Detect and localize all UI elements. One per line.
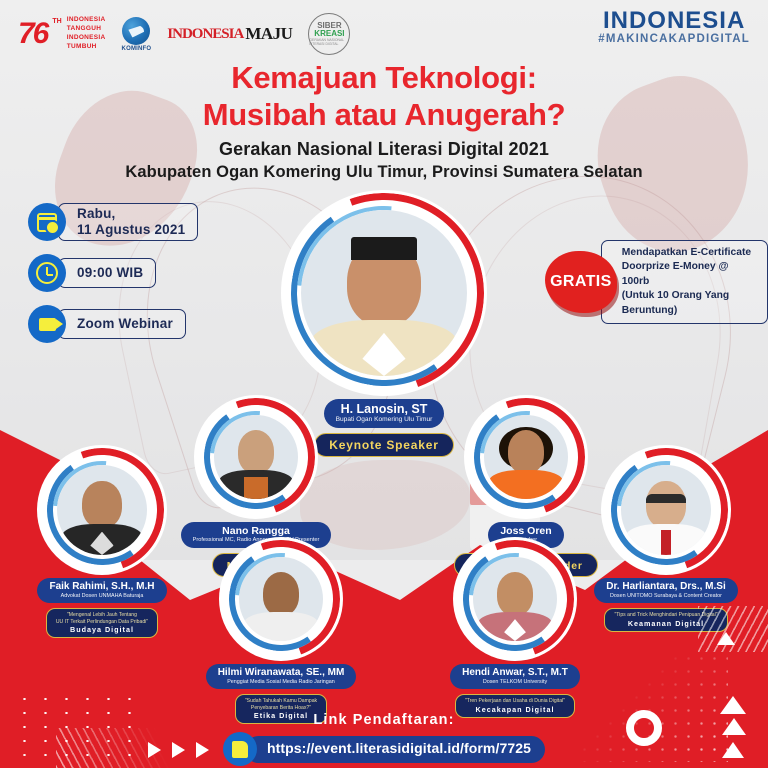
title-block: Kemajuan Teknologi: Musibah atau Anugera… bbox=[0, 60, 768, 182]
avatar-photo bbox=[484, 415, 568, 499]
speaker-quotebar: "Mengenal Lebih Jauh Tentang UU IT Terka… bbox=[46, 608, 158, 638]
gratis-promo: GRATIS Mendapatkan E-Certificate Doorpri… bbox=[545, 240, 768, 324]
gratis-line-1: Mendapatkan E-Certificate bbox=[622, 246, 757, 260]
speaker-quote: "Tren Pekerjaan dan Usaha di Dunia Digit… bbox=[465, 698, 565, 705]
webinar-poster: 76 TH INDONESIA TANGGUH INDONESIA TUMBUH… bbox=[0, 0, 768, 768]
speaker-category: Budaya Digital bbox=[56, 625, 148, 634]
speaker-role: Penggiat Media Sosial Media Radio Jaring… bbox=[218, 679, 345, 685]
avatar-photo bbox=[621, 465, 711, 555]
gratis-line-2: Doorprize E-Money @ 100rb bbox=[622, 260, 757, 289]
avatar bbox=[467, 398, 585, 516]
speaker-role: Advokat Dosen UNMAHA Baturaja bbox=[49, 593, 154, 599]
info-chip-platform-text: Zoom Webinar bbox=[77, 316, 173, 332]
indonesia-maju-part1: INDONESIA bbox=[167, 26, 243, 43]
title-subtitle: Gerakan Nasional Literasi Digital 2021 bbox=[0, 139, 768, 160]
gratis-badge: GRATIS bbox=[545, 251, 617, 313]
logo-kominfo: KOMINFO bbox=[122, 17, 152, 52]
speaker-namebar: Faik Rahimi, S.H., M.H Advokat Dosen UNM… bbox=[37, 578, 166, 603]
speaker-role: Dosen TELKOM University bbox=[462, 679, 568, 685]
logo-siber-kreasi: SIBER KREASI GERAKAN NASIONAL LITERASI D… bbox=[308, 13, 350, 55]
title-line-2: Musibah atau Anugerah? bbox=[0, 97, 768, 134]
gratis-line-3: (Untuk 10 Orang Yang Beruntung) bbox=[622, 289, 757, 318]
speaker-role: Bupati Ogan Komering Ulu Timur bbox=[336, 416, 433, 424]
logo-76th-indonesia: 76 TH INDONESIA TANGGUH INDONESIA TUMBUH bbox=[18, 16, 106, 51]
avatar bbox=[284, 193, 484, 393]
avatar-photo bbox=[57, 465, 147, 555]
form-icon bbox=[223, 732, 257, 766]
kominfo-label: KOMINFO bbox=[122, 46, 152, 52]
avatar bbox=[604, 448, 728, 572]
speaker-name: Joss Oren bbox=[500, 525, 551, 537]
speaker-name: Hilmi Wiranawata, SE., MM bbox=[218, 667, 345, 679]
avatar bbox=[222, 540, 340, 658]
speaker-namebar: Hendi Anwar, S.T., M.T Dosen TELKOM Univ… bbox=[450, 664, 580, 689]
speaker-namebar: Hilmi Wiranawata, SE., MM Penggiat Media… bbox=[206, 664, 357, 689]
indonesia-maju-part2: MAJU bbox=[245, 24, 292, 44]
event-info-chips: Rabu, 11 Agustus 2021 09:00 WIB Zoom Web… bbox=[28, 203, 198, 343]
registration-link[interactable]: https://event.literasidigital.id/form/77… bbox=[223, 732, 545, 766]
partner-logos: 76 TH INDONESIA TANGGUH INDONESIA TUMBUH… bbox=[18, 8, 350, 60]
logo-76-tagline: INDONESIA TANGGUH INDONESIA TUMBUH bbox=[67, 16, 106, 51]
speaker-role: Dosen UNITOMO Surabaya & Content Creator bbox=[606, 593, 726, 599]
speaker-card-1: Faik Rahimi, S.H., M.H Advokat Dosen UNM… bbox=[8, 448, 196, 638]
title-location: Kabupaten Ogan Komering Ulu Timur, Provi… bbox=[0, 163, 768, 182]
speaker-card-3: Hilmi Wiranawata, SE., MM Penggiat Media… bbox=[186, 540, 376, 724]
speaker-namebar: Dr. Harliantara, Drs., M.Si Dosen UNITOM… bbox=[594, 578, 738, 603]
info-chip-time-text: 09:00 WIB bbox=[77, 265, 143, 281]
title-line-1: Kemajuan Teknologi: bbox=[0, 60, 768, 97]
speaker-quote: "Mengenal Lebih Jauh Tentang UU IT Terka… bbox=[56, 612, 148, 625]
speaker-quote: "Sudah Tahukah Kamu Dampak Penyebaran Be… bbox=[245, 698, 317, 711]
avatar bbox=[40, 448, 164, 572]
hatch-decoration bbox=[698, 606, 768, 652]
indonesia-campaign-block: INDONESIA #MAKINCAKAPDIGITAL bbox=[598, 8, 750, 45]
avatar-photo bbox=[214, 415, 298, 499]
speaker-name: Faik Rahimi, S.H., M.H bbox=[49, 581, 154, 593]
kominfo-icon bbox=[122, 17, 150, 45]
campaign-title: INDONESIA bbox=[598, 8, 750, 33]
avatar bbox=[197, 398, 315, 516]
info-chip-time: 09:00 WIB bbox=[28, 254, 198, 292]
info-chip-date-text: Rabu, 11 Agustus 2021 bbox=[77, 206, 185, 238]
speaker-name: Nano Rangga bbox=[193, 525, 320, 537]
speaker-name: Dr. Harliantara, Drs., M.Si bbox=[606, 581, 726, 593]
hatch-decoration bbox=[56, 728, 176, 768]
video-camera-icon bbox=[28, 305, 66, 343]
gratis-badge-label: GRATIS bbox=[550, 273, 612, 291]
logo-76-number: 76 bbox=[18, 19, 47, 49]
logo-indonesia-maju: INDONESIA MAJU bbox=[167, 24, 292, 44]
info-chip-date: Rabu, 11 Agustus 2021 bbox=[28, 203, 198, 241]
avatar-photo bbox=[239, 557, 323, 641]
avatar-photo bbox=[473, 557, 557, 641]
calendar-icon bbox=[28, 203, 66, 241]
dot-fade-decoration bbox=[578, 652, 728, 762]
gratis-details: Mendapatkan E-Certificate Doorprize E-Mo… bbox=[601, 240, 768, 324]
campaign-hashtag: #MAKINCAKAPDIGITAL bbox=[598, 33, 750, 45]
avatar bbox=[456, 540, 574, 658]
logo-76-ordinal: TH bbox=[52, 18, 61, 25]
registration-url[interactable]: https://event.literasidigital.id/form/77… bbox=[267, 740, 531, 756]
info-chip-platform: Zoom Webinar bbox=[28, 305, 198, 343]
siber-line2: KREASI bbox=[314, 30, 344, 38]
avatar-photo bbox=[301, 210, 467, 376]
speaker-name: Hendi Anwar, S.T., M.T bbox=[462, 667, 568, 679]
siber-line3: GERAKAN NASIONAL LITERASI DIGITAL bbox=[309, 39, 349, 46]
speaker-name: H. Lanosin, ST bbox=[336, 402, 433, 416]
clock-icon bbox=[28, 254, 66, 292]
